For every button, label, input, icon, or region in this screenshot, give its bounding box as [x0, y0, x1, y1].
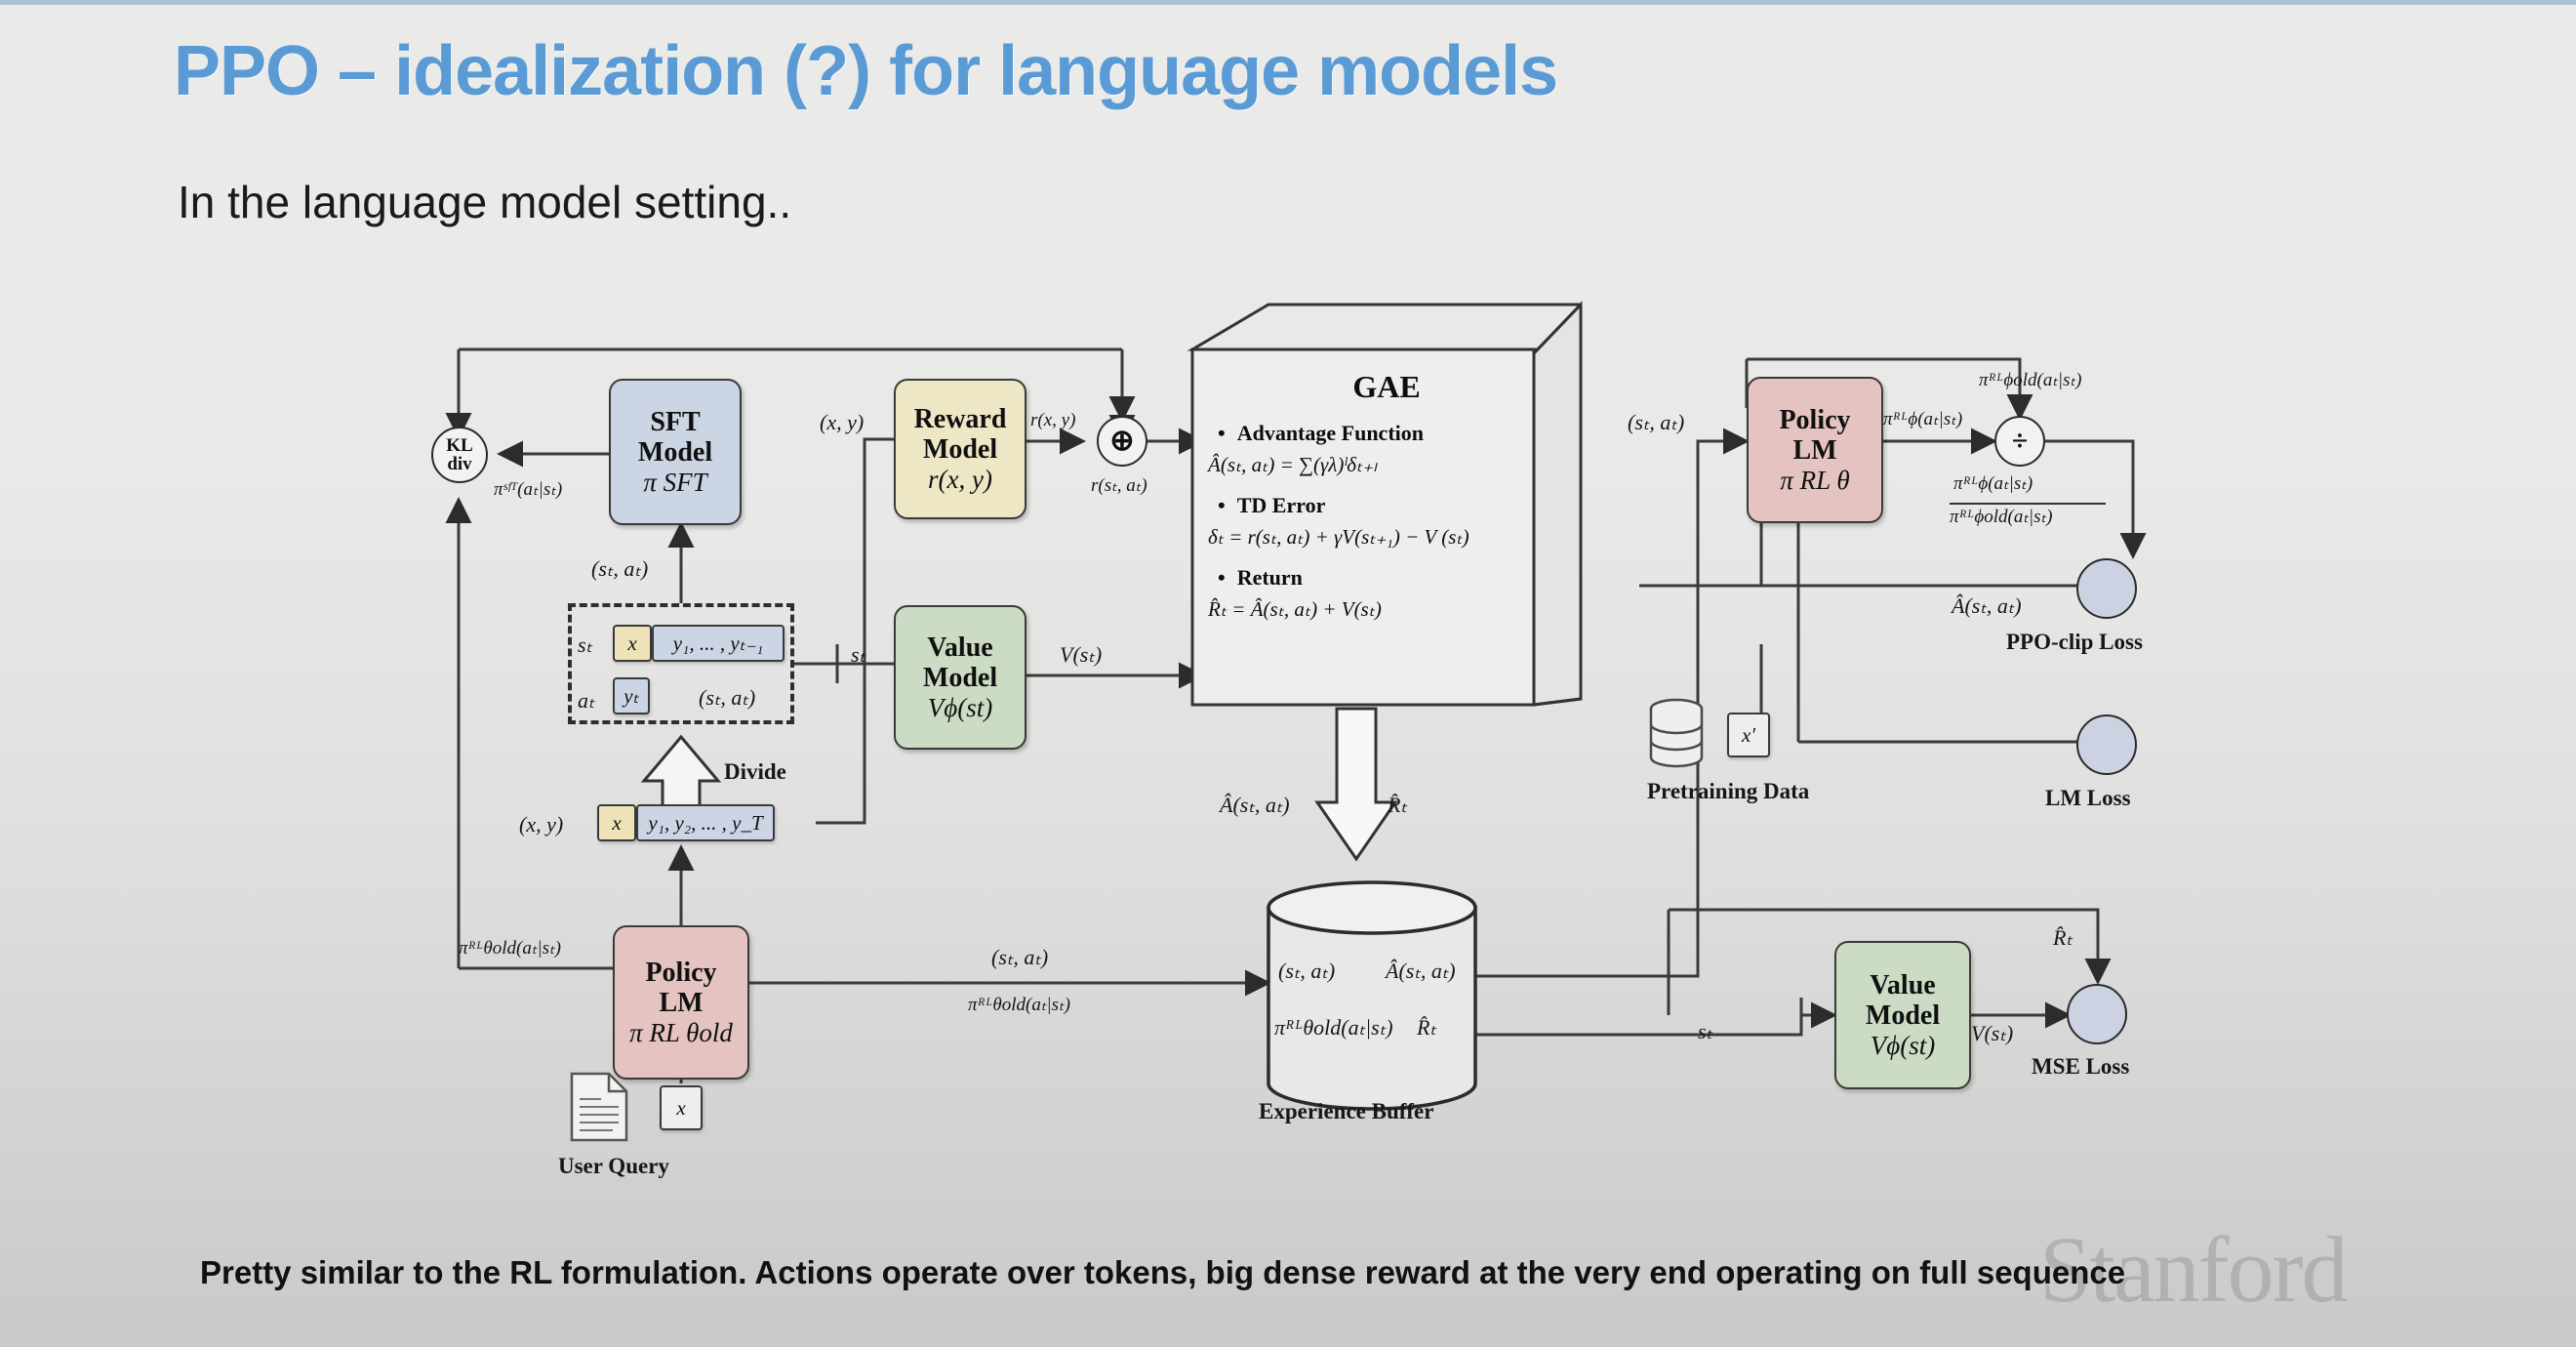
edge-label-sum-out: r(sₜ, aₜ): [1091, 474, 1147, 497]
experience-buffer-cylinder: [1268, 882, 1475, 1109]
gae-bullet-0-equation: Â(sₜ, aₜ) = ∑(γλ)ˡδₜ₊ₗ: [1208, 453, 1571, 477]
value-model-top-line1: Value: [927, 633, 992, 663]
user-query-caption: User Query: [558, 1154, 669, 1179]
divide-label: Divide: [724, 759, 786, 785]
gae-bullet-2-equation: R̂ₜ = Â(sₜ, aₜ) + V(sₜ): [1208, 597, 1571, 622]
edge-label-policy-to-buffer-top: (sₜ, aₜ): [991, 945, 1048, 970]
kl-div-node[interactable]: KL div: [431, 427, 488, 483]
experience-buffer-caption: Experience Buffer: [1259, 1099, 1433, 1124]
edge-label-reward-out: r(x, y): [1030, 410, 1075, 431]
edge-label-old-policy-top: πᴿᴸϕold(aₜ|sₜ): [1979, 369, 2081, 391]
edge-label-return-to-mse: R̂ₜ: [2053, 925, 2073, 951]
buffer-row2-right: R̂ₜ: [1417, 1015, 1436, 1041]
state-x-token: x: [613, 625, 652, 662]
value-model-bottom-box[interactable]: Value Model Vϕ(st): [1834, 941, 1971, 1089]
buffer-row2-left: πᴿᴸθold(aₜ|sₜ): [1274, 1015, 1393, 1041]
lm-loss-caption: LM Loss: [2045, 786, 2131, 811]
reward-model-line3: r(x, y): [928, 465, 992, 494]
divide-operator-symbol: ÷: [2012, 427, 2028, 456]
ppo-clip-loss-node[interactable]: [2076, 558, 2137, 619]
sft-model-line1: SFT: [650, 407, 700, 437]
ppo-architecture-diagram: KL div SFT Model π SFT Reward Model r(x,…: [0, 0, 2576, 1347]
value-model-bottom-line3: Vϕ(st): [1871, 1031, 1935, 1060]
action-y-token: yₜ: [613, 677, 650, 714]
value-model-top-line2: Model: [923, 663, 997, 693]
database-icon: [1651, 700, 1702, 766]
value-model-bottom-line1: Value: [1870, 970, 1935, 1000]
reward-model-box[interactable]: Reward Model r(x, y): [894, 379, 1026, 519]
state-action-group: [568, 603, 794, 724]
edge-label-policy-out: πᴿᴸϕ(aₜ|sₜ): [1883, 408, 1962, 430]
sum-operator-symbol: ⊕: [1109, 427, 1134, 456]
gae-bullet-0-heading: Advantage Function: [1218, 421, 1571, 446]
sft-model-box[interactable]: SFT Model π SFT: [609, 379, 742, 525]
ppo-clip-loss-caption: PPO-clip Loss: [2006, 630, 2143, 655]
pretraining-token: x′: [1727, 713, 1770, 757]
lm-loss-node[interactable]: [2076, 714, 2137, 775]
state-y-token: y₁, ... , yₜ₋₁: [652, 625, 785, 662]
gae-title: GAE: [1202, 369, 1571, 405]
divide-operator-icon: ÷: [1994, 416, 2045, 467]
edge-label-buffer-to-policy: (sₜ, aₜ): [1628, 410, 1684, 435]
edge-label-ratio-numerator: πᴿᴸϕ(aₜ|sₜ): [1953, 472, 2033, 495]
mse-loss-node[interactable]: [2067, 984, 2127, 1044]
pretraining-data-caption: Pretraining Data: [1647, 779, 1809, 804]
sequence-pair-label: (x, y): [519, 812, 563, 837]
edge-label-gae-out-ret: R̂ₜ: [1388, 793, 1407, 818]
sum-operator-icon: ⊕: [1097, 416, 1147, 467]
reward-model-line2: Model: [923, 434, 997, 465]
policy-lm-bottom-box[interactable]: Policy LM π RL θold: [613, 925, 749, 1080]
reward-model-line1: Reward: [914, 404, 1007, 434]
gae-box-content: GAE Advantage Function Â(sₜ, aₜ) = ∑(γλ)…: [1202, 359, 1571, 699]
edge-label-value-bottom-out: V(sₜ): [1971, 1021, 2013, 1046]
mse-loss-caption: MSE Loss: [2032, 1054, 2129, 1080]
slide-caption: Pretty similar to the RL formulation. Ac…: [200, 1254, 2125, 1291]
policy-lm-top-line1: Policy: [1779, 405, 1850, 435]
user-query-token: x: [660, 1085, 703, 1130]
policy-lm-top-box[interactable]: Policy LM π RL θ: [1747, 377, 1883, 523]
gae-bullet-2-heading: Return: [1218, 565, 1571, 591]
document-icon: [572, 1074, 626, 1140]
edge-label-state-to-value: sₜ: [851, 642, 865, 668]
edge-label-seq-to-reward: (x, y): [820, 410, 864, 435]
edge-label-value-out: V(sₜ): [1060, 642, 1102, 668]
value-model-bottom-line2: Model: [1866, 1000, 1940, 1031]
action-label: aₜ: [578, 688, 595, 714]
edge-label-policy-old-left: πᴿᴸθold(aₜ|sₜ): [459, 937, 561, 959]
edge-label-ratio-denominator: πᴿᴸϕold(aₜ|sₜ): [1950, 506, 2052, 528]
sequence-y-token: y₁, y₂, ... , y_T: [636, 804, 775, 841]
edge-label-gae-out-adv: Â(sₜ, aₜ): [1220, 793, 1290, 818]
buffer-row1-left: (sₜ, aₜ): [1278, 959, 1335, 984]
gae-bullet-1-equation: δₜ = r(sₜ, aₜ) + γV(sₜ₊₁) − V (sₜ): [1208, 525, 1571, 550]
policy-lm-bottom-line3: π RL θold: [629, 1018, 733, 1047]
edge-label-sft-to-kl: πˢᶠᵀ(aₜ|sₜ): [494, 478, 562, 501]
kl-div-line1: KL: [446, 436, 472, 455]
value-model-top-box[interactable]: Value Model Vϕ(st): [894, 605, 1026, 750]
sft-model-line2: Model: [638, 437, 712, 468]
policy-lm-bottom-line1: Policy: [645, 958, 716, 988]
sft-model-line3: π SFT: [643, 468, 706, 497]
policy-lm-top-line3: π RL θ: [1780, 466, 1849, 495]
edge-label-buffer-to-value: sₜ: [1698, 1019, 1712, 1044]
gae-bullet-1-heading: TD Error: [1218, 493, 1571, 518]
ratio-fraction-bar: [1950, 503, 2106, 505]
gae-to-buffer-arrow: [1317, 709, 1395, 859]
buffer-row1-right: Â(sₜ, aₜ): [1386, 959, 1456, 984]
state-action-pair-label: (sₜ, aₜ): [699, 685, 755, 711]
kl-div-line2: div: [447, 455, 471, 473]
policy-lm-top-line2: LM: [1792, 435, 1836, 466]
value-model-top-line3: Vϕ(st): [928, 693, 992, 722]
state-label: sₜ: [578, 633, 592, 658]
edge-label-adv-to-ppo: Â(sₜ, aₜ): [1952, 593, 2022, 619]
edge-label-policy-to-buffer-bottom: πᴿᴸθold(aₜ|sₜ): [968, 994, 1070, 1016]
edge-label-state-to-sft: (sₜ, aₜ): [591, 556, 648, 582]
sequence-x-token: x: [597, 804, 636, 841]
policy-lm-bottom-line2: LM: [659, 988, 703, 1018]
